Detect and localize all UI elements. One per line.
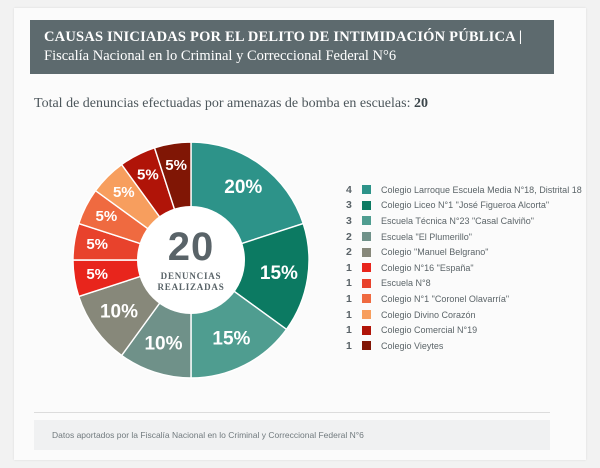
legend-label: Escuela Técnica N°23 "Casal Calviño" (381, 216, 534, 226)
subtitle-text: Total de denuncias efectuadas por amenaz… (34, 96, 414, 111)
legend-count: 1 (346, 262, 362, 274)
footer-divider (34, 412, 550, 413)
content-card: CAUSAS INICIADAS POR EL DELITO DE INTIMI… (14, 8, 586, 460)
legend-color-swatch (362, 279, 371, 288)
legend-count: 1 (346, 309, 362, 321)
legend-color-swatch (362, 216, 371, 225)
legend-count: 3 (346, 215, 362, 227)
legend-color-swatch (362, 248, 371, 257)
subtitle-total: 20 (414, 96, 428, 111)
donut-slice-label: 15% (212, 328, 250, 349)
legend-row: 2Escuela "El Plumerillo" (346, 229, 596, 245)
legend-label: Colegio Liceo N°1 "José Figueroa Alcorta… (381, 200, 549, 210)
legend-row: 1Colegio Divino Corazón (346, 307, 596, 323)
legend: 4Colegio Larroque Escuela Media N°18, Di… (346, 182, 596, 354)
donut-svg: 20%15%15%10%10%5%5%5%5%5%5% (72, 141, 310, 379)
footer-source-box: Datos aportados por la Fiscalía Nacional… (34, 420, 550, 450)
legend-label: Escuela "El Plumerillo" (381, 232, 472, 242)
legend-color-swatch (362, 341, 371, 350)
legend-count: 2 (346, 231, 362, 243)
legend-label: Colegio Larroque Escuela Media N°18, Dis… (381, 185, 582, 195)
donut-slice-label: 5% (96, 208, 118, 225)
legend-label: Escuela N°8 (381, 278, 431, 288)
legend-count: 1 (346, 277, 362, 289)
legend-row: 1Colegio N°1 "Coronel Olavarría" (346, 291, 596, 307)
legend-count: 1 (346, 324, 362, 336)
legend-label: Colegio N°1 "Coronel Olavarría" (381, 294, 509, 304)
footer-source-text: Datos aportados por la Fiscalía Nacional… (52, 430, 364, 440)
donut-slice-label: 5% (86, 266, 108, 283)
legend-label: Colegio Vieytes (381, 341, 443, 351)
legend-row: 4Colegio Larroque Escuela Media N°18, Di… (346, 182, 596, 198)
legend-count: 2 (346, 246, 362, 258)
legend-row: 3Escuela Técnica N°23 "Casal Calviño" (346, 213, 596, 229)
donut-slice-label: 10% (144, 334, 182, 355)
legend-color-swatch (362, 326, 371, 335)
title-line-1: CAUSAS INICIADAS POR EL DELITO DE INTIMI… (44, 28, 554, 47)
legend-count: 4 (346, 184, 362, 196)
legend-label: Colegio Comercial N°19 (381, 325, 477, 335)
subtitle: Total de denuncias efectuadas por amenaz… (34, 96, 428, 112)
donut-slice-label: 20% (224, 177, 262, 198)
legend-row: 3Colegio Liceo N°1 "José Figueroa Alcort… (346, 198, 596, 214)
donut-slice-label: 5% (86, 236, 108, 253)
title-banner: CAUSAS INICIADAS POR EL DELITO DE INTIMI… (30, 20, 554, 74)
legend-row: 1Colegio N°16 "España" (346, 260, 596, 276)
legend-label: Colegio N°16 "España" (381, 263, 474, 273)
donut-hole (137, 206, 245, 314)
legend-color-swatch (362, 201, 371, 210)
legend-color-swatch (362, 294, 371, 303)
donut-chart: 20%15%15%10%10%5%5%5%5%5%5% 20 DENUNCIAS… (72, 141, 310, 379)
legend-count: 1 (346, 293, 362, 305)
legend-count: 1 (346, 340, 362, 352)
donut-slice-label: 5% (165, 157, 187, 174)
legend-label: Colegio "Manuel Belgrano" (381, 247, 488, 257)
infographic-page: CAUSAS INICIADAS POR EL DELITO DE INTIMI… (0, 0, 600, 468)
legend-row: 1Escuela N°8 (346, 276, 596, 292)
legend-color-swatch (362, 232, 371, 241)
legend-row: 2Colegio "Manuel Belgrano" (346, 244, 596, 260)
legend-label: Colegio Divino Corazón (381, 310, 476, 320)
legend-color-swatch (362, 185, 371, 194)
legend-color-swatch (362, 310, 371, 319)
donut-slice-label: 5% (137, 166, 159, 183)
donut-slice-label: 15% (260, 263, 298, 284)
legend-count: 3 (346, 199, 362, 211)
donut-slice-label: 5% (113, 184, 135, 201)
title-line-2: Fiscalía Nacional en lo Criminal y Corre… (44, 47, 554, 66)
donut-slice-label: 10% (100, 301, 138, 322)
legend-color-swatch (362, 263, 371, 272)
legend-row: 1Colegio Comercial N°19 (346, 322, 596, 338)
legend-row: 1Colegio Vieytes (346, 338, 596, 354)
